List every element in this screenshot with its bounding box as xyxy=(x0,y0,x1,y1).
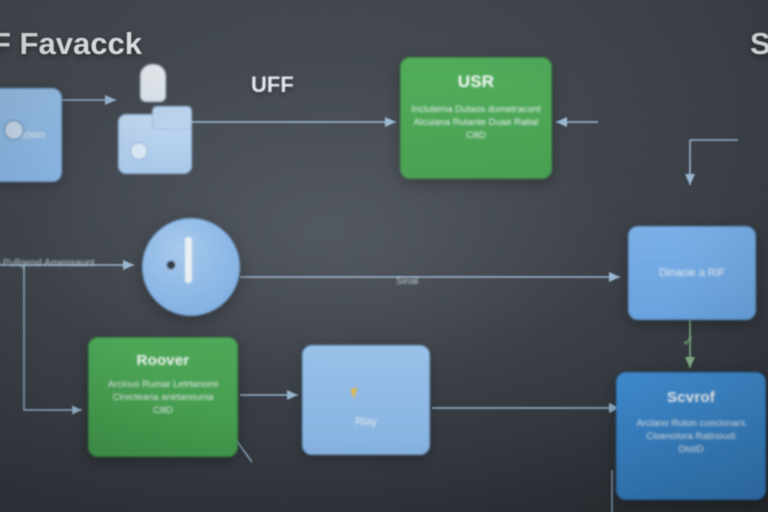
node-serverf-body: Arclano Ruton cuocionars Cloenotora Rati… xyxy=(625,418,757,456)
node-recover-title: Roover xyxy=(97,352,229,369)
node-usr-body: Inclutema Dutaos dumetracont Alcuiana Ru… xyxy=(409,104,543,142)
clock-illustration[interactable] xyxy=(142,218,240,316)
node-relay-label: Rlay xyxy=(355,415,377,430)
node-client-rif-label: Dinacie a RiF xyxy=(659,266,725,281)
diagram-canvas: F Favacck S UFF Sinal Known USR Inclutem… xyxy=(0,0,768,512)
node-client-rif[interactable]: Dinacie a RiF xyxy=(628,226,756,320)
node-usr[interactable]: USR Inclutema Dutaos dumetracont Alcuian… xyxy=(400,57,552,179)
check-mark-illustration: ✓ xyxy=(682,334,698,350)
printer-illustration xyxy=(118,100,190,182)
connector-left-rail xyxy=(24,265,82,410)
cursor-illustration xyxy=(352,388,368,404)
node-serverf[interactable]: Scvrof Arclano Ruton cuocionars Cloenoto… xyxy=(616,372,766,500)
node-serverf-title: Scvrof xyxy=(625,389,757,406)
node-usr-title: USR xyxy=(409,72,543,92)
connector-recover-down xyxy=(236,440,252,462)
connector-usr-right-down xyxy=(690,140,738,185)
node-recover-body: Arcinus Rumar Letrtanomi Clrectearia ani… xyxy=(97,379,229,417)
lightbulb-icon xyxy=(140,64,166,102)
node-recover[interactable]: Roover Arcinus Rumar Letrtanomi Clrectea… xyxy=(88,337,238,457)
circle-badge-icon xyxy=(4,120,24,140)
